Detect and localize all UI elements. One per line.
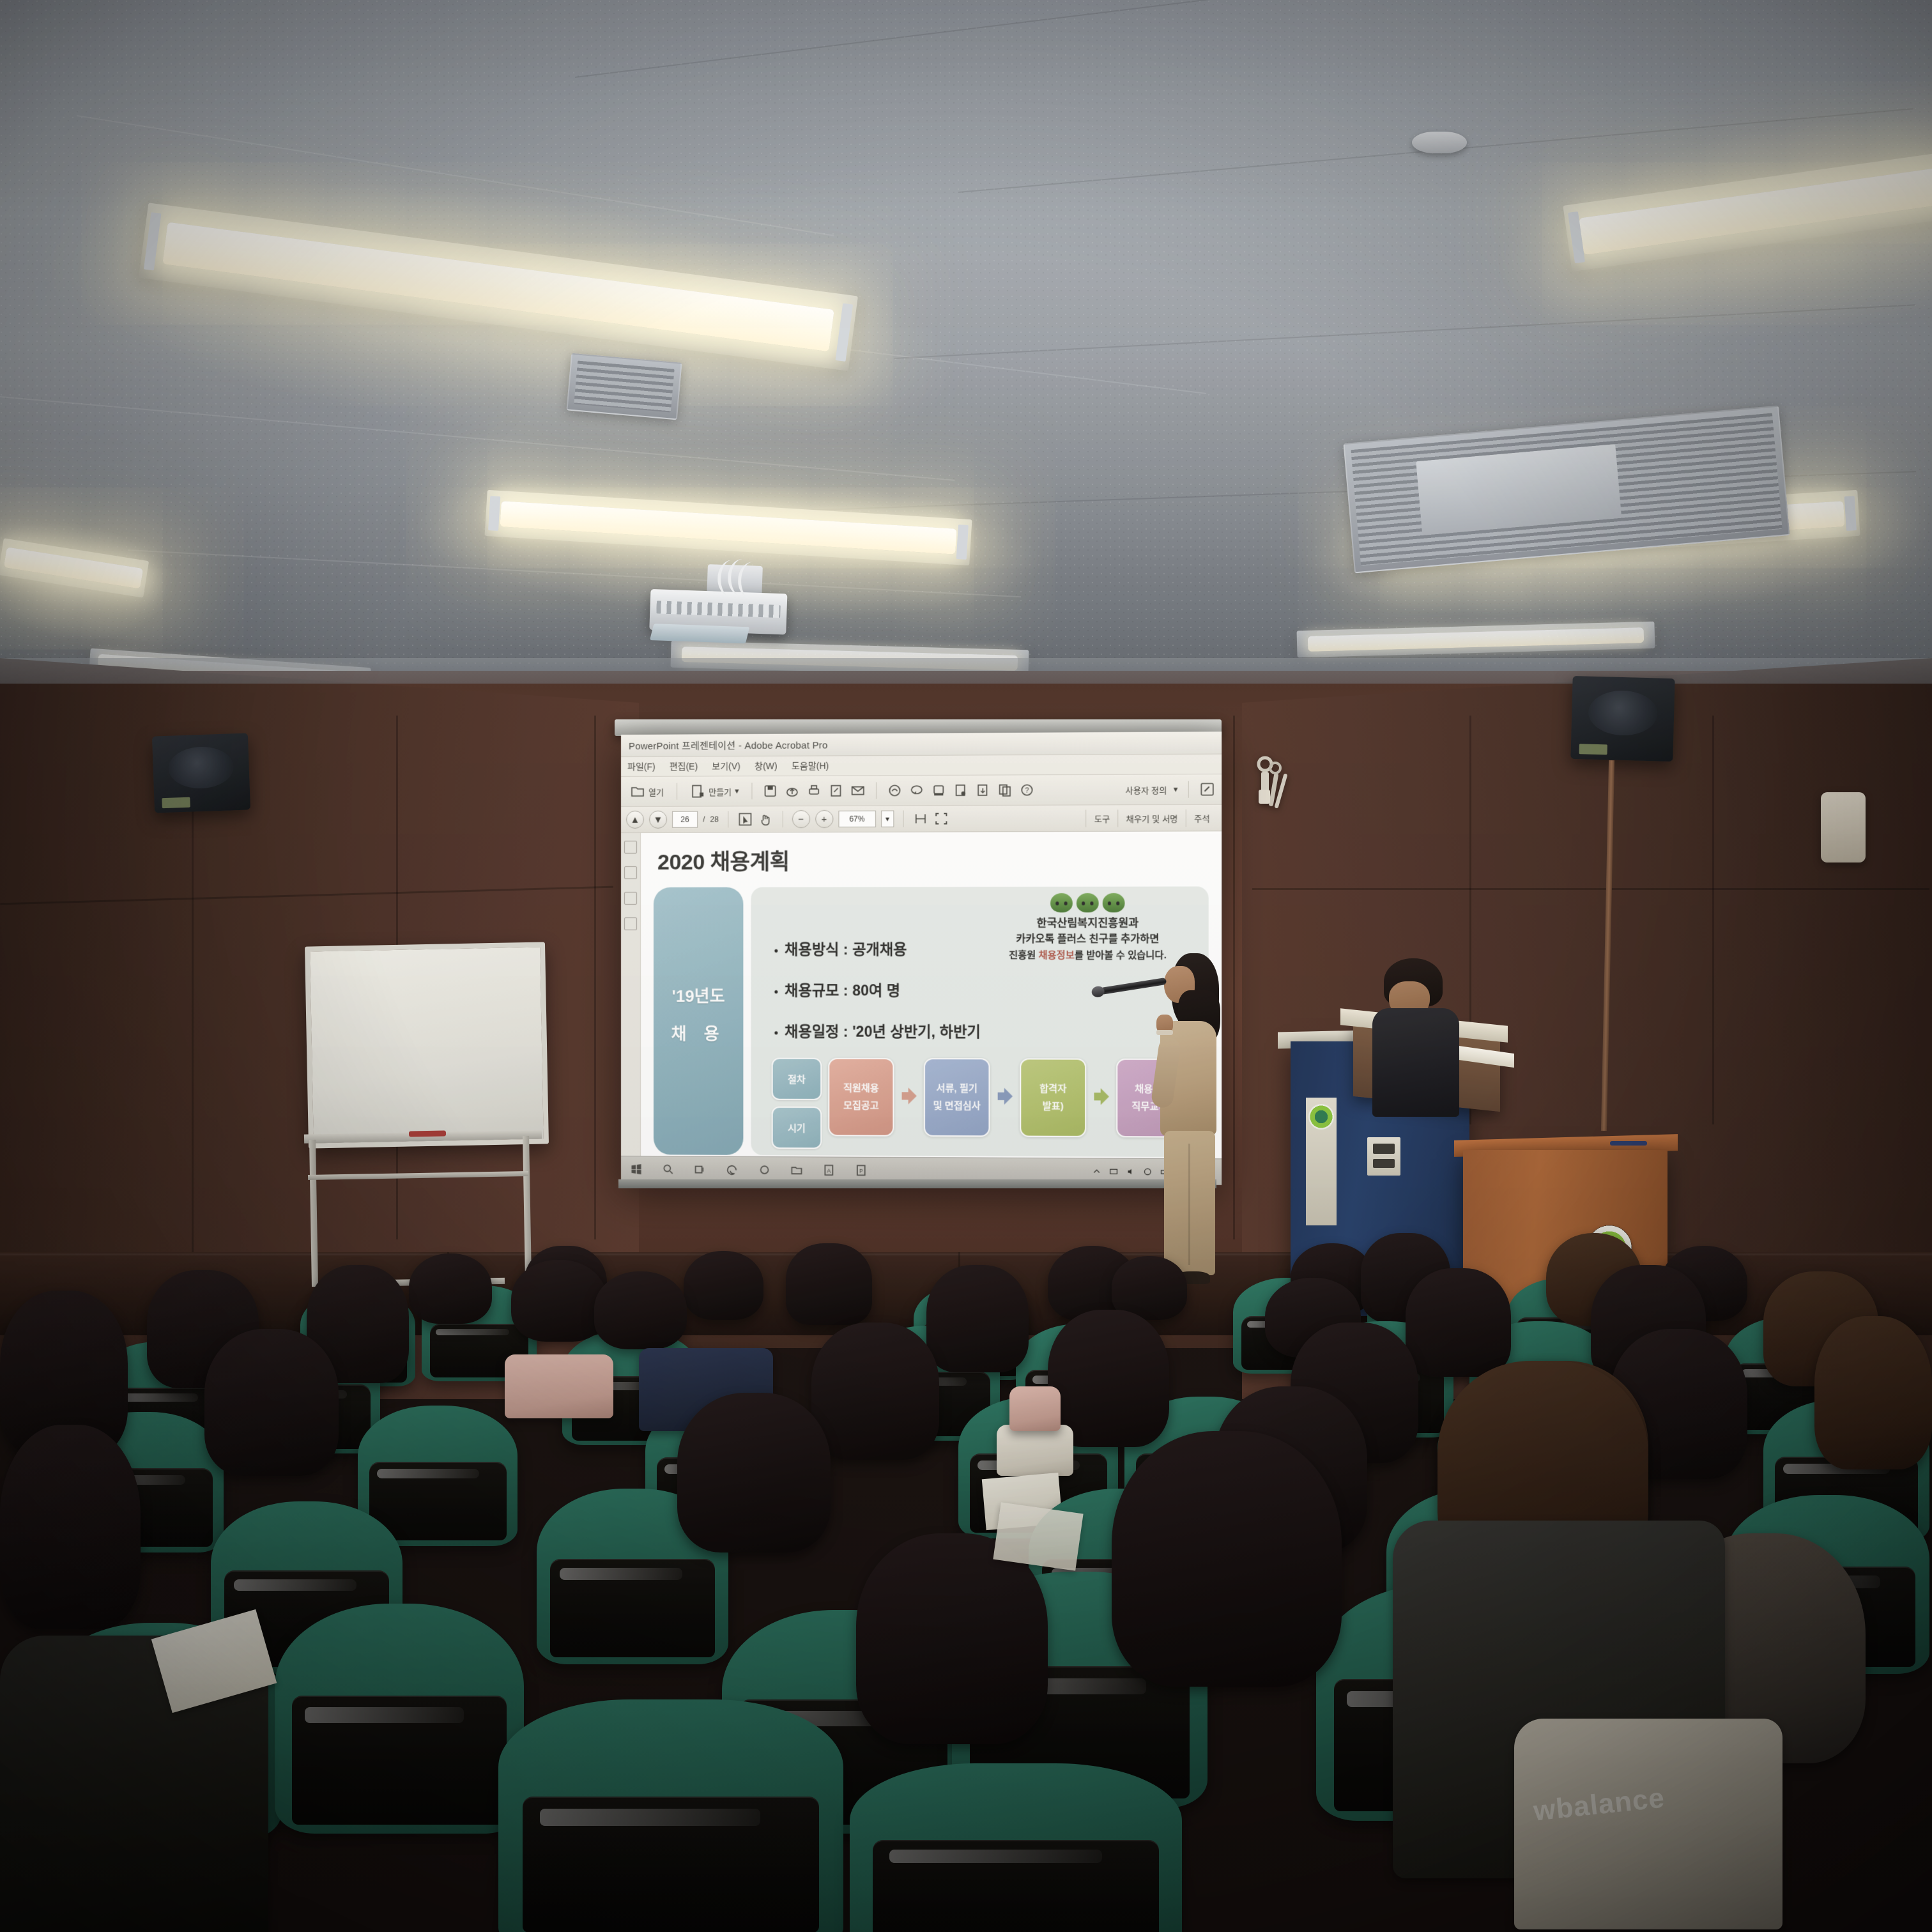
page-up-button[interactable]: ▲ xyxy=(626,811,644,829)
flow-step-line1: 합격자 xyxy=(1039,1084,1066,1095)
whiteboard xyxy=(305,942,549,1148)
kakao-line3-highlight: 채용정보 xyxy=(1039,950,1075,961)
wall-fixture xyxy=(1821,792,1866,862)
svg-text:A: A xyxy=(827,1168,831,1174)
slide-right-card: 한국산림복지진흥원과 카카오톡 플러스 친구를 추가하면 진흥원 채용정보를 받… xyxy=(751,886,1208,1157)
kakao-line3-pre: 진흥원 xyxy=(1009,950,1038,961)
flow-step-line1: 서류, 필기 xyxy=(936,1084,977,1095)
flow-step-announcement: 직원채용 모집공고 xyxy=(828,1058,894,1137)
menu-item-file[interactable]: 파일(F) xyxy=(627,760,655,773)
flow-step-line2: 모집공고 xyxy=(843,1100,879,1112)
layers-icon[interactable] xyxy=(624,917,637,930)
bullet-text: 채용규모 : 80여 명 xyxy=(785,978,900,1000)
thumbnails-icon[interactable] xyxy=(624,841,637,854)
page-down-button[interactable]: ▼ xyxy=(649,811,667,829)
wall-panel-seam xyxy=(1233,716,1235,1239)
tools-pane-icon[interactable] xyxy=(1199,781,1215,797)
seat xyxy=(850,1763,1182,1932)
save-icon[interactable] xyxy=(763,783,778,799)
flow-step-line1: 직원채용 xyxy=(843,1083,879,1094)
bullet-item: • 채용일정 : '20년 상반기, 하반기 xyxy=(774,1019,1192,1041)
document-viewport: 2020 채용계획 '19년도 채 용 한국산림 xyxy=(621,831,1222,1158)
open-button[interactable]: 열기 xyxy=(627,783,666,801)
audience-head xyxy=(856,1533,1048,1744)
email-icon[interactable] xyxy=(850,783,866,798)
tab-comment[interactable]: 주석 xyxy=(1186,809,1218,827)
tab-fill-and-sign[interactable]: 채우기 및 서명 xyxy=(1117,809,1185,827)
cloud-upload-icon[interactable] xyxy=(785,783,800,799)
chevron-up-icon[interactable] xyxy=(1092,1167,1101,1176)
audience-head xyxy=(1112,1431,1342,1687)
combine-icon[interactable] xyxy=(997,783,1013,798)
print-icon[interactable] xyxy=(806,783,822,799)
projection-screen-bottom-bar xyxy=(618,1179,1216,1188)
staff-member xyxy=(1367,958,1463,1105)
toolbar-right-group: 사용자 정의 ▾ xyxy=(1126,781,1215,798)
network-icon[interactable] xyxy=(1109,1167,1118,1176)
zoom-out-button[interactable]: − xyxy=(792,810,810,828)
ac-vent xyxy=(566,353,682,420)
svg-text:?: ? xyxy=(1025,786,1029,794)
audience-head xyxy=(786,1243,872,1325)
sign-icon[interactable] xyxy=(887,783,903,798)
auditorium-scene: PowerPoint 프레젠테이션 - Adobe Acrobat Pro – … xyxy=(0,0,1932,1932)
volume-icon[interactable] xyxy=(1126,1167,1135,1176)
audience-head xyxy=(811,1322,939,1460)
page-separator: / xyxy=(703,815,705,824)
open-folder-icon xyxy=(630,784,645,799)
audience-head xyxy=(677,1393,831,1552)
windows-start-icon[interactable] xyxy=(630,1163,643,1176)
seat xyxy=(498,1699,843,1932)
select-tool-icon[interactable] xyxy=(737,811,753,827)
menu-item-window[interactable]: 창(W) xyxy=(755,760,778,772)
audience-head xyxy=(1814,1316,1932,1469)
slide-left-panel: '19년도 채 용 xyxy=(654,887,743,1155)
audience-head xyxy=(0,1425,141,1629)
audience-head xyxy=(204,1329,339,1476)
left-panel-line2: 채 용 xyxy=(671,1021,725,1045)
menu-bar: 파일(F) 편집(E) 보기(V) 창(W) 도움말(H) xyxy=(621,755,1222,777)
chevron-down-icon: ▾ xyxy=(735,786,739,796)
wall-panel-seam xyxy=(192,735,194,1259)
flow-step-line2: 발표) xyxy=(1043,1101,1064,1112)
ceiling-texture xyxy=(0,0,1932,716)
audience-clothing xyxy=(997,1425,1073,1476)
slide-page: 2020 채용계획 '19년도 채 용 한국산림 xyxy=(641,831,1222,1158)
bullet-marker: • xyxy=(774,945,778,956)
protect-icon[interactable] xyxy=(953,783,969,798)
slide-title: 2020 채용계획 xyxy=(657,843,1209,876)
kakao-line2: 카카오톡 플러스 친구를 추가하면 xyxy=(980,932,1195,948)
audience-head xyxy=(926,1265,1029,1372)
fit-page-icon[interactable] xyxy=(933,811,949,826)
keys-on-hook-icon xyxy=(1246,754,1303,824)
menu-item-help[interactable]: 도움말(H) xyxy=(792,760,829,772)
flow-arrow-icon xyxy=(900,1058,917,1134)
flow-step-line2: 및 면접심사 xyxy=(933,1100,981,1112)
bullet-marker: • xyxy=(774,1027,778,1038)
bookmarks-icon[interactable] xyxy=(624,866,637,879)
three-green-character-faces-icon xyxy=(980,893,1195,913)
projection-screen: PowerPoint 프레젠테이션 - Adobe Acrobat Pro – … xyxy=(621,732,1222,1185)
audience-head xyxy=(409,1253,492,1324)
chevron-down-icon[interactable]: ▾ xyxy=(1174,785,1178,795)
powerpoint-icon[interactable]: P xyxy=(855,1164,868,1177)
page-navigation-bar: ▲ ▼ 26 / 28 − + 67% ▾ 도구 채우기 및 서명 xyxy=(621,805,1222,833)
seat xyxy=(275,1604,524,1834)
smoke-detector-icon xyxy=(1412,132,1467,153)
presenter xyxy=(1150,953,1227,1285)
hand-tool-icon[interactable] xyxy=(758,811,773,827)
open-button-label: 열기 xyxy=(648,785,664,797)
hiring-process-flow: 절차 시기 직원채용 모집공고 서류, 필기 xyxy=(768,1058,1192,1151)
close-button[interactable]: ✕ xyxy=(1206,732,1218,733)
window-controls: – ❐ ✕ xyxy=(1152,732,1218,734)
podium-pen xyxy=(1610,1141,1647,1146)
bullet-text: 채용방식 : 공개채용 xyxy=(785,937,907,959)
flow-step-screening: 서류, 필기 및 면접심사 xyxy=(924,1058,990,1137)
handout-paper xyxy=(993,1502,1083,1570)
window-titlebar: PowerPoint 프레젠테이션 - Adobe Acrobat Pro – … xyxy=(621,732,1222,757)
flow-arrow-icon xyxy=(1092,1059,1110,1135)
acrobat-icon[interactable]: A xyxy=(822,1163,835,1176)
flow-stub-timing: 시기 xyxy=(772,1107,822,1149)
page-number-input[interactable]: 26 xyxy=(672,811,698,828)
window-title: PowerPoint 프레젠테이션 - Adobe Acrobat Pro xyxy=(621,738,828,753)
wall-panel-seam xyxy=(1252,888,1929,890)
edge-icon[interactable] xyxy=(726,1163,739,1176)
left-panel-line1: '19년도 xyxy=(672,983,725,1007)
help-icon[interactable]: ? xyxy=(1020,782,1035,797)
stamp-icon[interactable] xyxy=(931,783,946,798)
audience-clothing xyxy=(1009,1386,1061,1431)
menu-item-edit[interactable]: 편집(E) xyxy=(670,760,698,772)
explorer-icon[interactable] xyxy=(790,1163,803,1176)
search-icon[interactable] xyxy=(662,1163,675,1176)
audience-head xyxy=(684,1251,763,1320)
bullet-text: 채용일정 : '20년 상반기, 하반기 xyxy=(785,1019,981,1041)
export-icon[interactable] xyxy=(975,783,990,798)
create-button-label: 만들기 xyxy=(709,785,732,797)
svg-text:P: P xyxy=(859,1168,863,1174)
right-panel-tabs: 도구 채우기 및 서명 주석 xyxy=(1085,809,1218,827)
fit-width-icon[interactable] xyxy=(912,811,928,826)
audience-head xyxy=(594,1271,687,1349)
attachments-icon[interactable] xyxy=(624,892,637,905)
audience-head xyxy=(1406,1268,1511,1377)
page-total: 28 xyxy=(710,815,719,824)
audience-clothing xyxy=(505,1354,613,1418)
wall-panel-seam xyxy=(1712,716,1714,1124)
main-toolbar: 열기 만들기 ▾ xyxy=(621,774,1222,807)
create-button[interactable]: 만들기 ▾ xyxy=(687,782,742,800)
institute-emblem-icon xyxy=(1308,1104,1334,1130)
tab-tools[interactable]: 도구 xyxy=(1085,809,1117,827)
slide-title-rule xyxy=(657,877,850,877)
wall-panel-seam xyxy=(594,716,596,1239)
task-view-icon[interactable] xyxy=(694,1163,707,1176)
flow-arrow-icon xyxy=(997,1058,1013,1134)
customize-label[interactable]: 사용자 정의 xyxy=(1126,783,1167,795)
ceiling xyxy=(0,0,1932,716)
wall-socket xyxy=(1367,1137,1400,1176)
cortana-icon[interactable] xyxy=(758,1163,771,1176)
wall-speaker xyxy=(1570,676,1675,762)
create-pdf-icon xyxy=(690,783,705,799)
flow-step-results: 합격자 발표) xyxy=(1020,1058,1086,1137)
minimize-button[interactable]: – xyxy=(1152,732,1160,733)
flow-stub-process: 절차 xyxy=(772,1058,822,1100)
acrobat-window: PowerPoint 프레젠테이션 - Adobe Acrobat Pro – … xyxy=(621,732,1222,1185)
kakao-line1: 한국산림복지진흥원과 xyxy=(980,915,1195,932)
slide-content: '19년도 채 용 한국산림복지진흥원과 카카오톡 플러스 친구를 추가하면 xyxy=(654,886,1209,1157)
whiteboard-marker xyxy=(409,1130,446,1137)
audience-head xyxy=(511,1260,607,1342)
zoom-level-input[interactable]: 67% xyxy=(838,811,876,827)
zoom-in-button[interactable]: + xyxy=(815,810,833,828)
zoom-dropdown-caret[interactable]: ▾ xyxy=(881,811,894,827)
menu-item-view[interactable]: 보기(V) xyxy=(712,760,740,772)
wall-speaker xyxy=(152,733,250,813)
comment-icon[interactable] xyxy=(909,783,924,798)
flow-stub-group: 절차 시기 xyxy=(772,1058,822,1149)
bullet-marker: • xyxy=(774,986,778,997)
navigation-rail xyxy=(621,833,641,1156)
maximize-button[interactable]: ❐ xyxy=(1177,732,1189,733)
edit-icon[interactable] xyxy=(829,783,844,799)
kakao-notice: 한국산림복지진흥원과 카카오톡 플러스 친구를 추가하면 진흥원 채용정보를 받… xyxy=(980,893,1195,963)
